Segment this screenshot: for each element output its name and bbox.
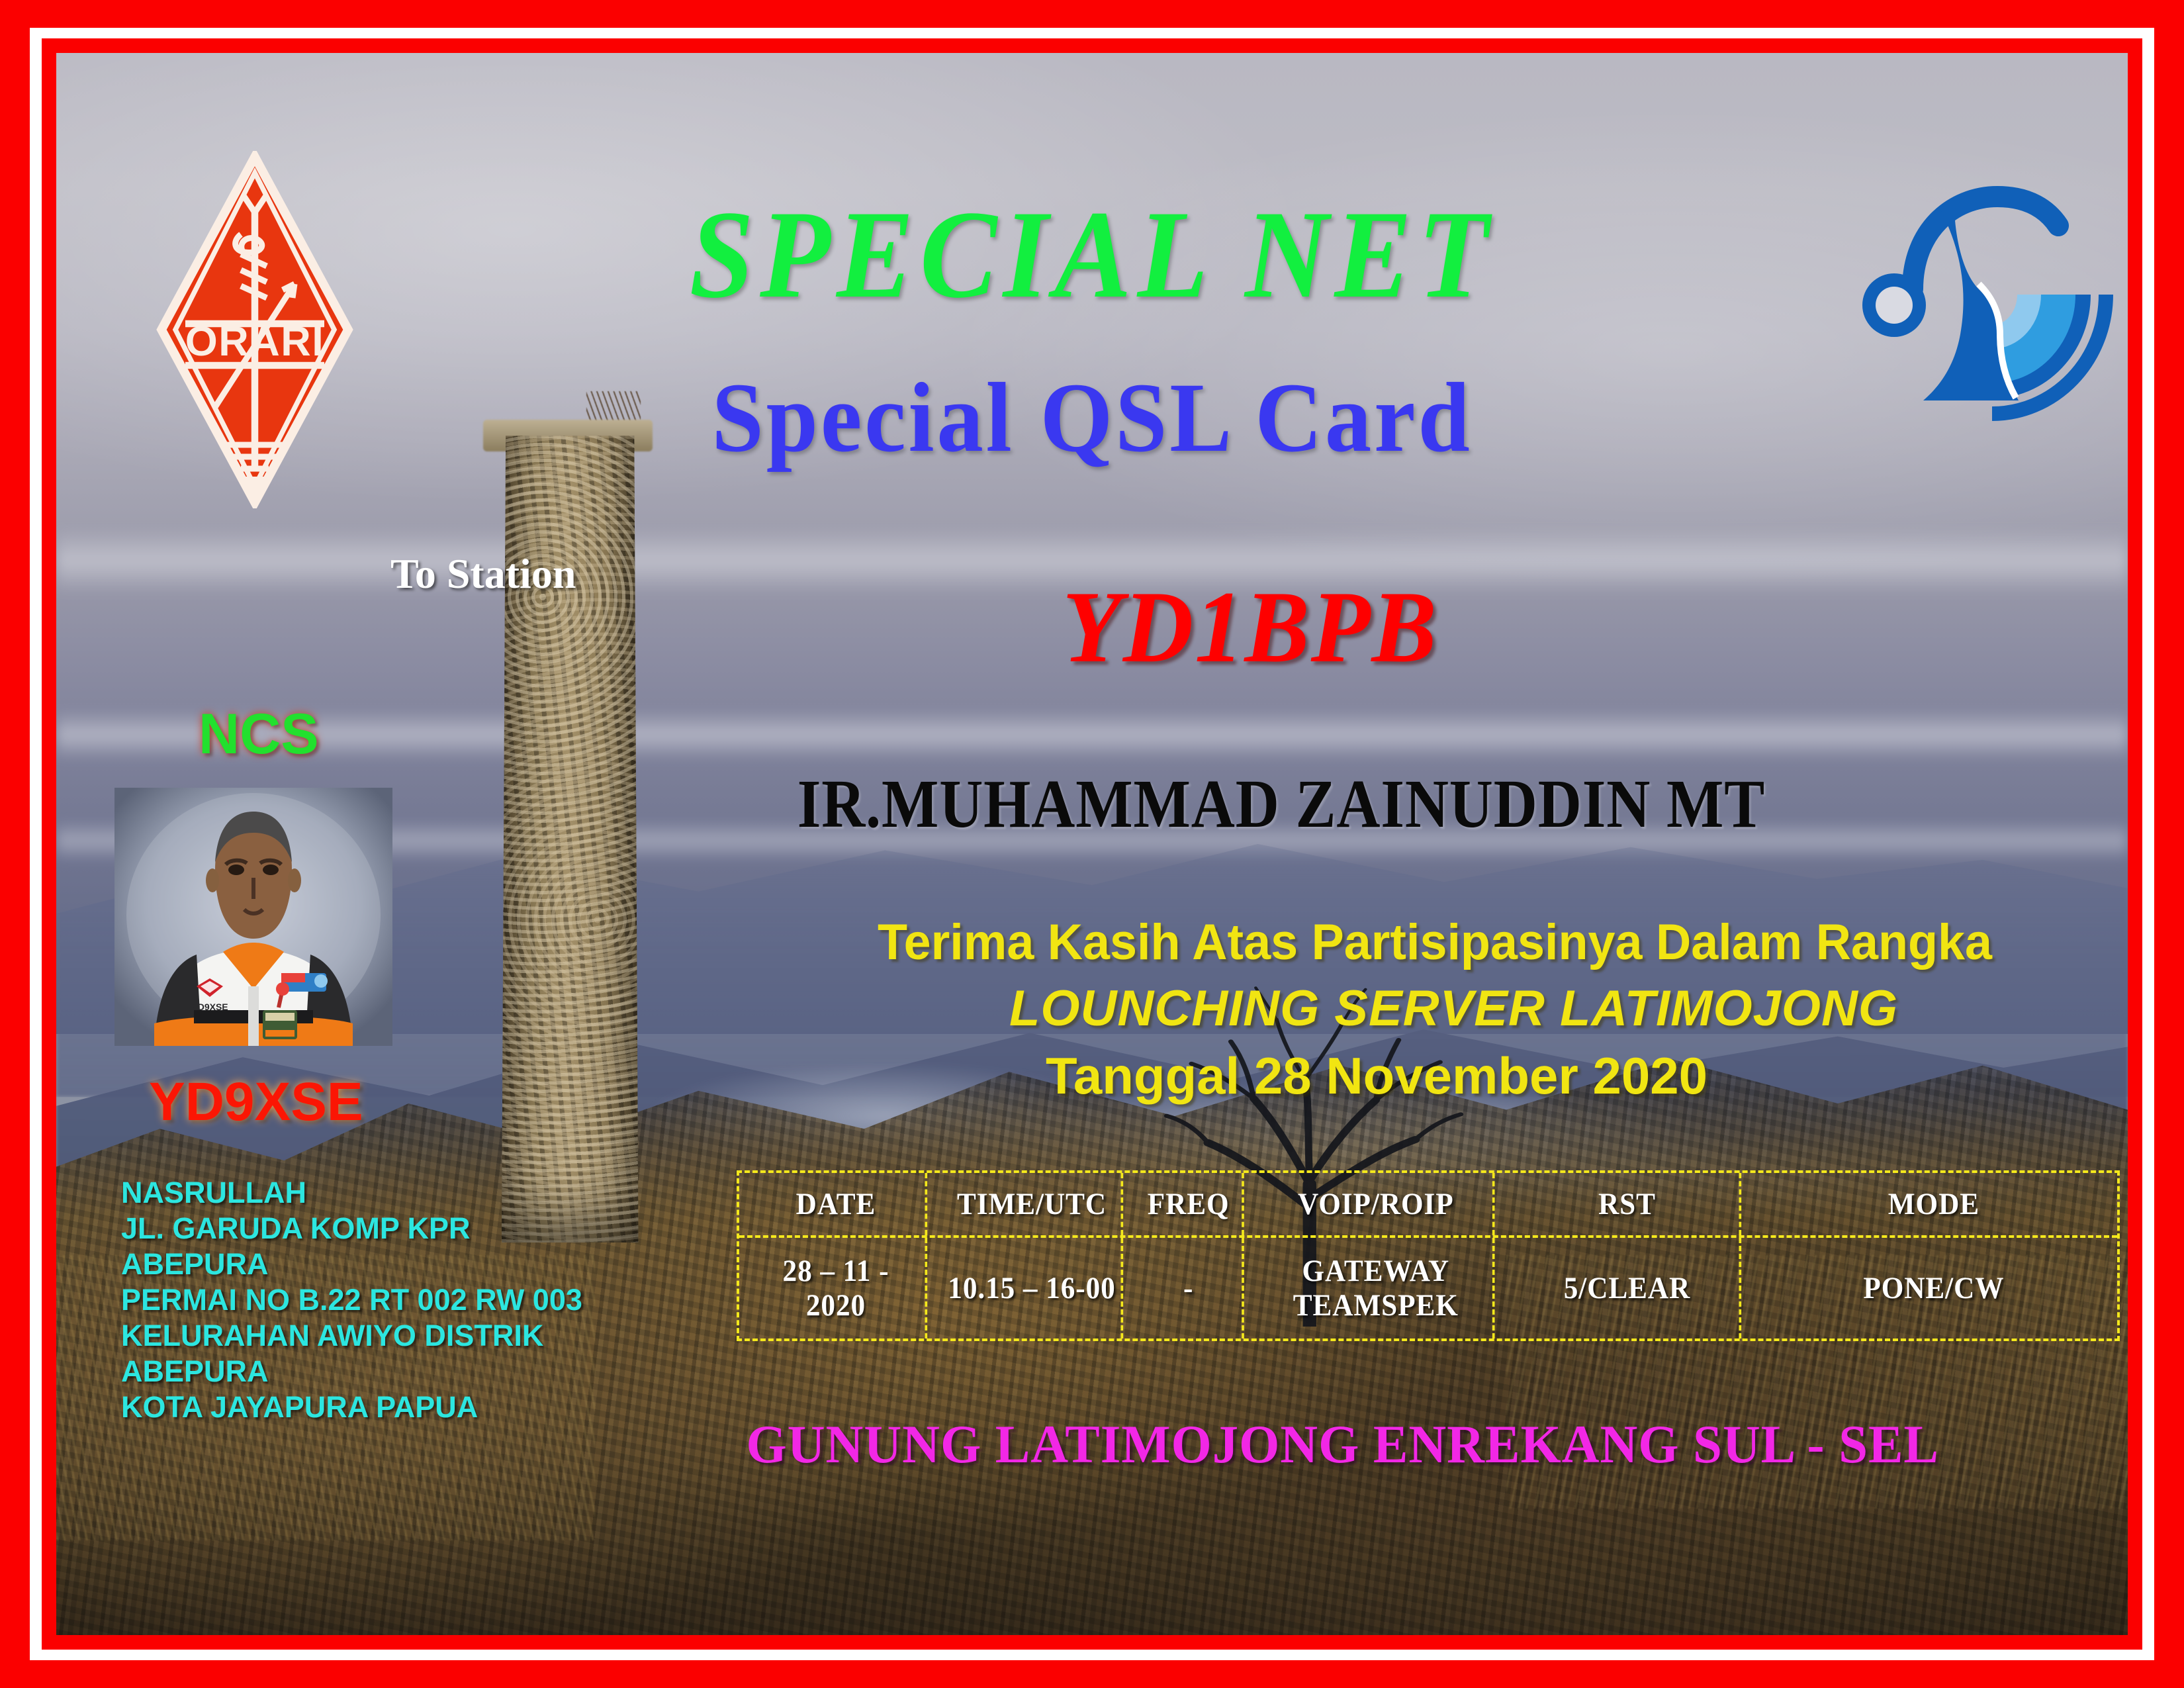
to-station-label: To Station xyxy=(390,549,576,598)
cell-time: 10.15 – 16-00 xyxy=(942,1238,1122,1338)
ncs-callsign: YD9XSE xyxy=(149,1071,363,1133)
column-header-freq: FREQ xyxy=(1135,1173,1244,1235)
table-row: 28 – 11 - 2020 10.15 – 16-00 - GATEWAY T… xyxy=(739,1235,2117,1338)
ncs-operator-photo: YD9XSE xyxy=(114,788,392,1046)
address-line: NASRULLAH xyxy=(121,1175,717,1211)
address-line: ABEPURA xyxy=(121,1354,717,1389)
table-header-row: DATE TIME/UTC FREQ VOIP/ROIP RST MODE xyxy=(739,1173,2117,1235)
column-header-voip-roip: VOIP/ROIP xyxy=(1259,1173,1495,1235)
page-title: SPECIAL NET xyxy=(139,183,2045,327)
station-callsign: YD1BPB xyxy=(1062,568,1438,686)
column-header-mode: MODE xyxy=(1765,1173,2102,1235)
qso-log-table: DATE TIME/UTC FREQ VOIP/ROIP RST MODE 28… xyxy=(737,1170,2120,1341)
cell-freq: - xyxy=(1135,1238,1244,1338)
frame-white-gap: ORARI xyxy=(30,28,2154,1660)
address-line: KOTA JAYAPURA PAPUA xyxy=(121,1389,717,1425)
cell-voip-roip-line2: TEAMSPEK xyxy=(1293,1288,1459,1323)
card-background-photo: ORARI xyxy=(56,53,2128,1635)
frame-inner-red-band: ORARI xyxy=(42,38,2142,1650)
cell-voip-roip: GATEWAY TEAMSPEK xyxy=(1259,1238,1495,1338)
column-header-time: TIME/UTC xyxy=(942,1173,1122,1235)
page-subtitle: Special QSL Card xyxy=(118,361,2066,475)
thanks-line-1: Terima Kasih Atas Partisipasinya Dalam R… xyxy=(878,914,1992,971)
thanks-line-2: LOUNCHING SERVER LATIMOJONG xyxy=(1009,980,1898,1037)
ncs-label: NCS xyxy=(199,702,319,767)
cell-date: 28 – 11 - 2020 xyxy=(747,1238,927,1338)
footer-web-address: Address : amatir.latimojong.com xyxy=(1366,1630,2063,1635)
operator-name: IR.MUHAMMAD ZAINUDDIN MT xyxy=(797,765,1765,843)
cell-voip-roip-line1: GATEWAY xyxy=(1302,1254,1450,1288)
footer-motto: "AMATIR RADIO ADALAH PROGRESIVE" xyxy=(180,1630,1163,1635)
cell-mode: PONE/CW xyxy=(1765,1238,2102,1338)
address-line: KELURAHAN AWIYO DISTRIK xyxy=(121,1318,717,1354)
address-line: PERMAI NO B.22 RT 002 RW 003 xyxy=(121,1282,717,1318)
address-line: JL. GARUDA KOMP KPR xyxy=(121,1211,717,1246)
cell-rst: 5/CLEAR xyxy=(1515,1238,1741,1338)
column-header-date: DATE xyxy=(747,1173,927,1235)
address-line: ABEPURA xyxy=(121,1246,717,1282)
thanks-line-3: Tanggal 28 November 2020 xyxy=(1046,1046,1707,1106)
svg-text:YD9XSE: YD9XSE xyxy=(191,1002,228,1012)
qsl-card-frame: ORARI xyxy=(0,0,2184,1688)
location-line: GUNUNG LATIMOJONG ENREKANG SUL - SEL xyxy=(747,1413,1939,1476)
column-header-rst: RST xyxy=(1515,1173,1741,1235)
mailing-address: NASRULLAH JL. GARUDA KOMP KPR ABEPURA PE… xyxy=(121,1175,717,1425)
